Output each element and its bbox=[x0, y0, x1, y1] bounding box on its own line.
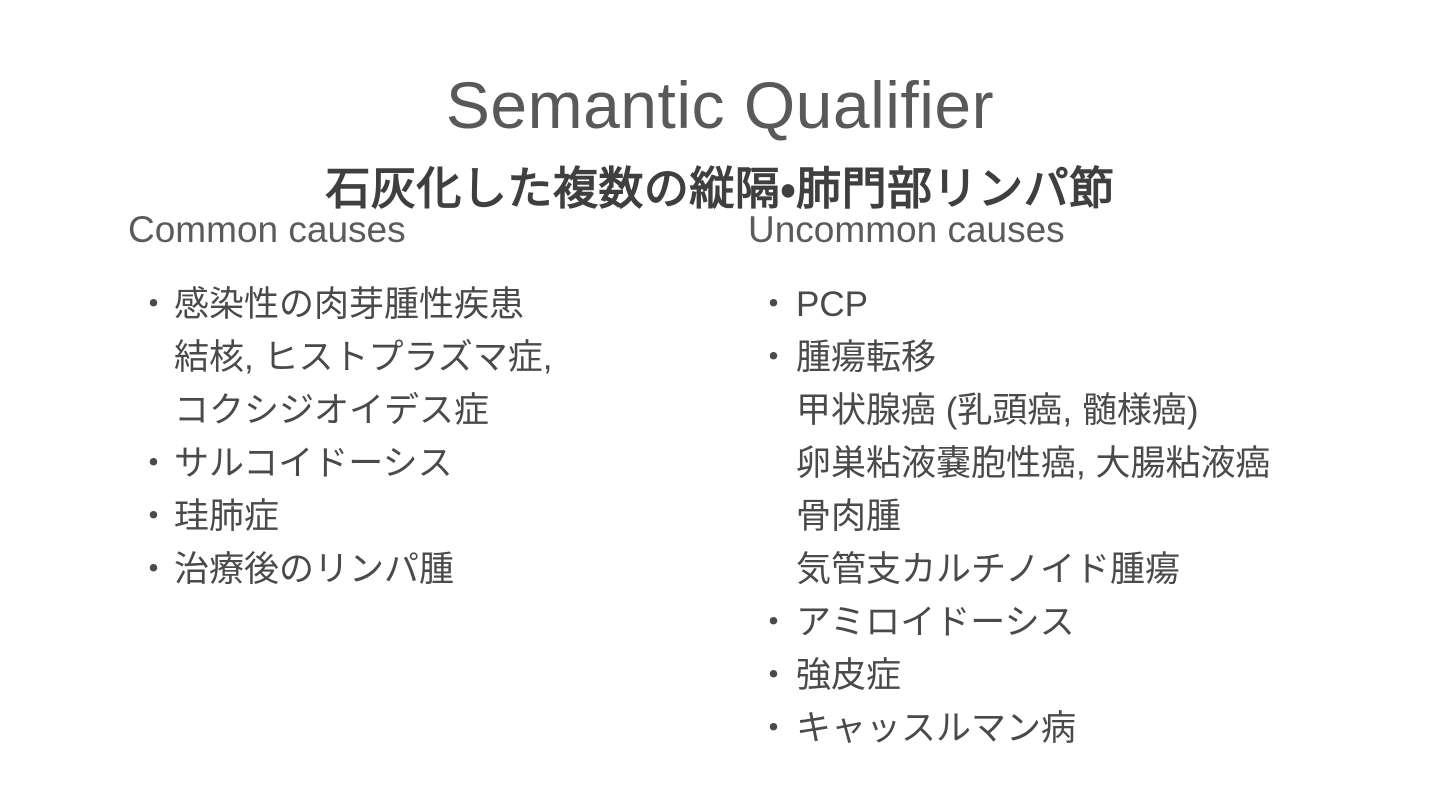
list-item-subline: 甲状腺癌 (乳頭癌, 髄様癌) bbox=[796, 384, 1428, 437]
bullet-dot-icon: ・ bbox=[756, 278, 791, 331]
list-item: ・PCP bbox=[756, 278, 1428, 331]
list-item-label: 感染性の肉芽腫性疾患 bbox=[174, 278, 728, 331]
list-item: ・感染性の肉芽腫性疾患結核, ヒストプラズマ症,コクシジオイデス症 bbox=[136, 278, 728, 437]
bullet-dot-icon: ・ bbox=[756, 331, 791, 384]
list-item-subline: コクシジオイデス症 bbox=[174, 384, 728, 437]
column-uncommon-causes: Uncommon causes ・PCP・腫瘍転移甲状腺癌 (乳頭癌, 髄様癌)… bbox=[748, 206, 1428, 755]
list-item: ・治療後のリンパ腫 bbox=[136, 543, 728, 596]
list-item: ・アミロイドーシス bbox=[756, 596, 1428, 649]
list-item-label: PCP bbox=[796, 278, 1428, 331]
list-item-subline: 卵巣粘液嚢胞性癌, 大腸粘液癌 bbox=[796, 437, 1428, 490]
list-item-label: 珪肺症 bbox=[174, 490, 728, 543]
list-item: ・サルコイドーシス bbox=[136, 437, 728, 490]
column-heading-common: Common causes bbox=[128, 206, 728, 254]
bullet-dot-icon: ・ bbox=[756, 649, 791, 702]
list-item-label: 腫瘍転移 bbox=[796, 331, 1428, 384]
column-heading-uncommon: Uncommon causes bbox=[748, 206, 1428, 254]
bullet-dot-icon: ・ bbox=[756, 702, 791, 755]
list-item: ・強皮症 bbox=[756, 649, 1428, 702]
list-item-subline: 骨肉腫 bbox=[796, 490, 1428, 543]
list-item-subline: 気管支カルチノイド腫瘍 bbox=[796, 543, 1428, 596]
bullet-dot-icon: ・ bbox=[136, 278, 171, 331]
list-item: ・キャッスルマン病 bbox=[756, 702, 1428, 755]
bullet-dot-icon: ・ bbox=[136, 437, 171, 490]
bullet-list-uncommon: ・PCP・腫瘍転移甲状腺癌 (乳頭癌, 髄様癌)卵巣粘液嚢胞性癌, 大腸粘液癌骨… bbox=[756, 278, 1428, 755]
causes-columns: Common causes ・感染性の肉芽腫性疾患結核, ヒストプラズマ症,コク… bbox=[0, 206, 1440, 806]
bullet-dot-icon: ・ bbox=[136, 543, 171, 596]
bullet-dot-icon: ・ bbox=[136, 490, 171, 543]
column-common-causes: Common causes ・感染性の肉芽腫性疾患結核, ヒストプラズマ症,コク… bbox=[128, 206, 728, 596]
list-item-label: 治療後のリンパ腫 bbox=[174, 543, 728, 596]
list-item: ・珪肺症 bbox=[136, 490, 728, 543]
list-item-subline: 結核, ヒストプラズマ症, bbox=[174, 331, 728, 384]
page-title: Semantic Qualifier bbox=[0, 66, 1440, 144]
list-item-label: 強皮症 bbox=[796, 649, 1428, 702]
list-item-label: サルコイドーシス bbox=[174, 437, 728, 490]
list-item-label: キャッスルマン病 bbox=[796, 702, 1428, 755]
slide-canvas: Semantic Qualifier 石灰化した複数の縦隔・肺門部リンパ節 Co… bbox=[0, 0, 1440, 810]
list-item: ・腫瘍転移甲状腺癌 (乳頭癌, 髄様癌)卵巣粘液嚢胞性癌, 大腸粘液癌骨肉腫気管… bbox=[756, 331, 1428, 596]
list-item-label: アミロイドーシス bbox=[796, 596, 1428, 649]
bullet-dot-icon: ・ bbox=[756, 596, 791, 649]
bullet-list-common: ・感染性の肉芽腫性疾患結核, ヒストプラズマ症,コクシジオイデス症・サルコイドー… bbox=[136, 278, 728, 596]
